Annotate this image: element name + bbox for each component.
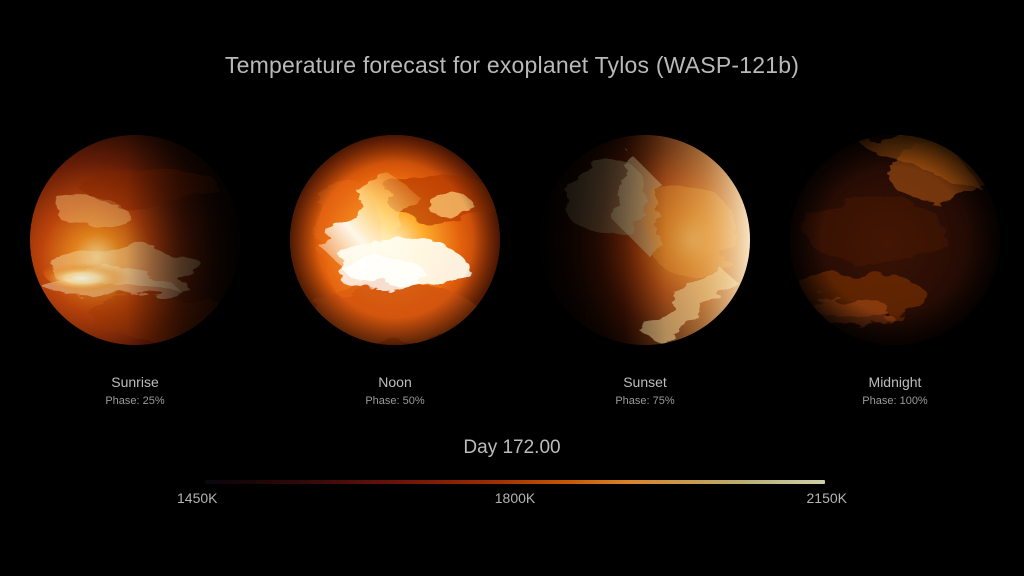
planet-sphere-sunrise xyxy=(30,135,240,345)
planet-sphere-sunset xyxy=(540,135,750,345)
planet-phase-sunset: Phase: 75% xyxy=(515,396,775,407)
figure-canvas: Temperature forecast for exoplanet Tylos… xyxy=(0,0,1024,576)
colorbar-tick-min: 1450K xyxy=(177,490,217,506)
planet-globe-wrap-noon xyxy=(290,135,500,345)
colorbar-tick-mid: 1800K xyxy=(495,490,535,506)
planet-label-noon: Noon xyxy=(265,375,525,389)
planet-globe-wrap-sunset xyxy=(540,135,750,345)
temperature-colorbar-group: 1450K 1800K 2150K xyxy=(205,480,825,520)
planet-phase-noon: Phase: 50% xyxy=(265,396,525,407)
planet-label-sunset: Sunset xyxy=(515,375,775,389)
colorbar-tick-max: 2150K xyxy=(807,490,847,506)
planet-phase-midnight: Phase: 100% xyxy=(765,396,1024,407)
temperature-colorbar[interactable] xyxy=(205,480,825,484)
day-readout: Day 172.00 xyxy=(0,437,1024,459)
planet-globe-wrap-sunrise xyxy=(30,135,240,345)
planet-sphere-midnight xyxy=(790,135,1000,345)
planet-sphere-noon xyxy=(290,135,500,345)
planet-phase-sunrise: Phase: 25% xyxy=(5,396,265,407)
planet-label-midnight: Midnight xyxy=(765,375,1024,389)
planet-globe-wrap-midnight xyxy=(790,135,1000,345)
planet-label-sunrise: Sunrise xyxy=(5,375,265,389)
